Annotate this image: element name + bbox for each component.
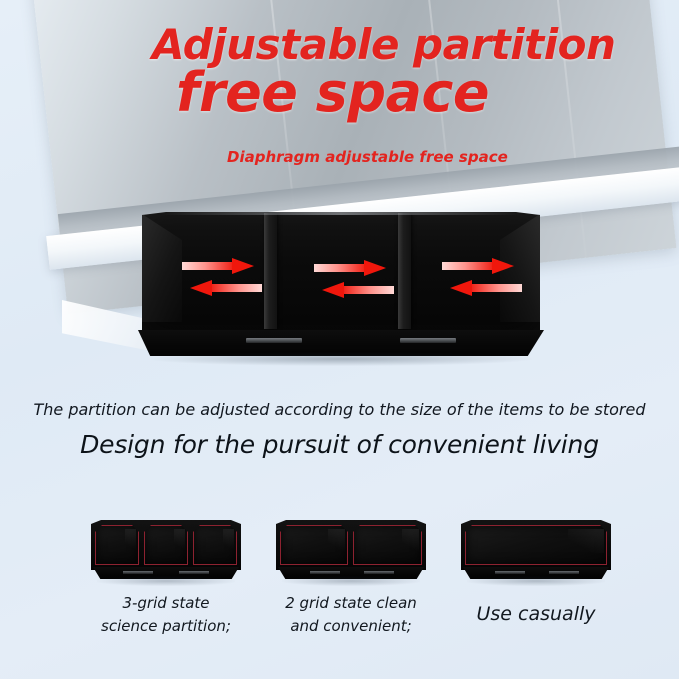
caption-line: 2 grid state clean <box>268 592 434 615</box>
thumb-base-slot <box>364 571 394 574</box>
thumb-cell <box>280 525 348 565</box>
hero-scene: Adjustable partition free space Diaphrag… <box>0 0 679 392</box>
thumb-base-slot <box>310 571 340 574</box>
headline-line-2: free space <box>176 66 489 120</box>
thumb-shadow <box>467 576 605 586</box>
caption-line: 3-grid state <box>78 592 254 615</box>
thumb-base-slot <box>495 571 525 574</box>
arrow-right-icon <box>182 258 254 274</box>
product-marketing-image: Adjustable partition free space Diaphrag… <box>0 0 679 679</box>
arrow-left-icon <box>322 282 394 298</box>
box-top-lip-highlight <box>162 212 520 215</box>
arrow-pair-compartment-3 <box>442 258 534 302</box>
thumb-base-slot <box>123 571 153 574</box>
mid-copy-line-2: Design for the pursuit of convenient liv… <box>0 430 679 459</box>
thumb-shadow <box>282 576 420 586</box>
arrow-left-icon <box>450 280 522 296</box>
main-product-box <box>142 212 540 362</box>
variant-open-state: Use casually <box>446 520 626 629</box>
box-base-slot <box>246 338 302 343</box>
thumb-cell <box>193 525 237 565</box>
thumb-cell <box>465 525 607 565</box>
variant-caption: 3-grid state science partition; <box>78 592 254 639</box>
box-left-wall <box>142 214 182 322</box>
arrow-left-icon <box>190 280 262 296</box>
thumb-base-slot <box>549 571 579 574</box>
thumb-body <box>91 520 241 570</box>
variant-row: 3-grid state science partition; 2 grid s… <box>0 520 679 660</box>
hero-sub-caption: Diaphragm adjustable free space <box>227 148 508 166</box>
thumb-cell <box>144 525 188 565</box>
box-base-slot <box>400 338 456 343</box>
variant-three-grid: 3-grid state science partition; <box>78 520 254 639</box>
variant-caption: 2 grid state clean and convenient; <box>268 592 434 639</box>
variant-caption: Use casually <box>446 592 626 629</box>
caption-line: Use casually <box>446 600 626 629</box>
mid-copy-line-1: The partition can be adjusted according … <box>0 400 679 419</box>
arrow-right-icon <box>442 258 514 274</box>
thumb-base-slot <box>179 571 209 574</box>
thumb-shadow <box>97 576 235 586</box>
variant-two-grid: 2 grid state clean and convenient; <box>268 520 434 639</box>
caption-line: and convenient; <box>268 615 434 638</box>
thumb-body <box>461 520 611 570</box>
arrow-pair-compartment-1 <box>182 258 274 302</box>
variant-thumbnail <box>461 520 611 582</box>
variant-thumbnail <box>91 520 241 582</box>
box-drop-shadow <box>150 352 532 366</box>
variant-thumbnail <box>276 520 426 582</box>
headline-line-1: Adjustable partition <box>152 24 615 66</box>
arrow-pair-compartment-2 <box>314 260 406 304</box>
thumb-cell <box>353 525 422 565</box>
caption-line: science partition; <box>78 615 254 638</box>
thumb-body <box>276 520 426 570</box>
thumb-cell <box>95 525 139 565</box>
arrow-right-icon <box>314 260 386 276</box>
